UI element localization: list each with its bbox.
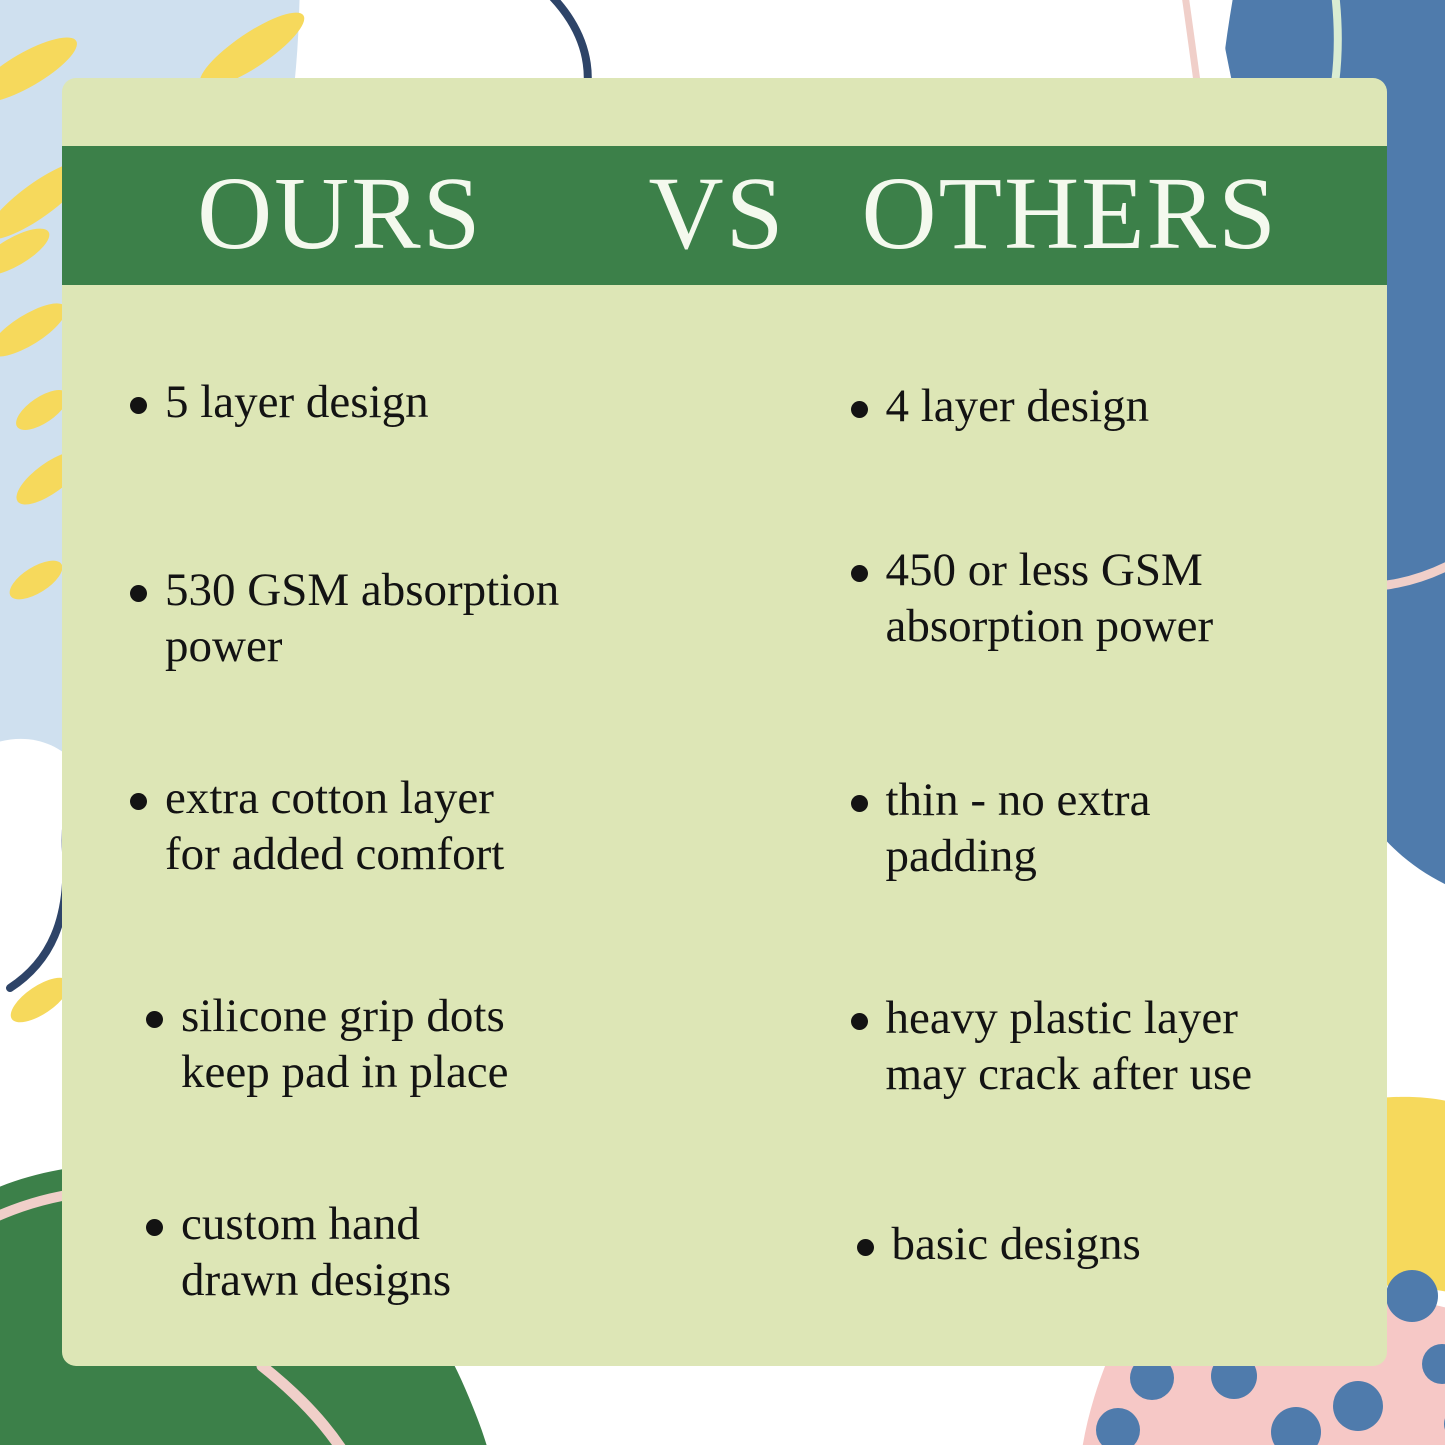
list-item-label: basic designs (892, 1217, 1141, 1273)
list-item-label: custom hand drawn designs (181, 1197, 451, 1309)
bullet-dot-icon (130, 397, 147, 414)
list-item-label: extra cotton layer for added comfort (165, 771, 504, 883)
bullet-dot-icon (851, 401, 868, 418)
list-item-label: 5 layer design (165, 375, 429, 431)
bullet-dot-icon (130, 793, 147, 810)
banner-title-row: OURS VS OTHERS (171, 162, 1278, 266)
list-item: silicone grip dots keep pad in place (146, 989, 509, 1101)
list-item: basic designs (857, 1217, 1141, 1273)
comparison-columns: 5 layer design 530 GSM absorption power … (62, 285, 1387, 1366)
bullet-dot-icon (857, 1239, 874, 1256)
bullet-dot-icon (130, 585, 147, 602)
list-item: heavy plastic layer may crack after use (851, 991, 1253, 1103)
list-item: thin - no extra padding (851, 773, 1151, 885)
column-others: 4 layer design 450 or less GSM absorptio… (793, 285, 1445, 1366)
bullet-dot-icon (851, 565, 868, 582)
bullet-dot-icon (146, 1219, 163, 1236)
comparison-infographic: OURS VS OTHERS 5 layer design 530 GSM ab… (0, 0, 1445, 1445)
list-item-label: thin - no extra padding (886, 773, 1151, 885)
list-item-label: 4 layer design (886, 379, 1150, 435)
list-item: custom hand drawn designs (146, 1197, 451, 1309)
list-item-label: heavy plastic layer may crack after use (886, 991, 1253, 1103)
list-item-label: silicone grip dots keep pad in place (181, 989, 509, 1101)
list-item: 530 GSM absorption power (130, 563, 559, 675)
list-item-label: 450 or less GSM absorption power (886, 543, 1214, 655)
bullet-dot-icon (851, 1013, 868, 1030)
list-item: extra cotton layer for added comfort (130, 771, 504, 883)
header-ours-label: OURS (197, 162, 482, 266)
list-item: 4 layer design (851, 379, 1150, 435)
header-banner: OURS VS OTHERS (62, 146, 1387, 285)
header-others-label: OTHERS (861, 162, 1277, 266)
list-item: 450 or less GSM absorption power (851, 543, 1214, 655)
list-item-label: 530 GSM absorption power (165, 563, 559, 675)
bullet-dot-icon (851, 795, 868, 812)
column-ours: 5 layer design 530 GSM absorption power … (62, 285, 793, 1366)
header-vs-label: VS (648, 162, 785, 266)
list-item: 5 layer design (130, 375, 429, 431)
bullet-dot-icon (146, 1011, 163, 1028)
